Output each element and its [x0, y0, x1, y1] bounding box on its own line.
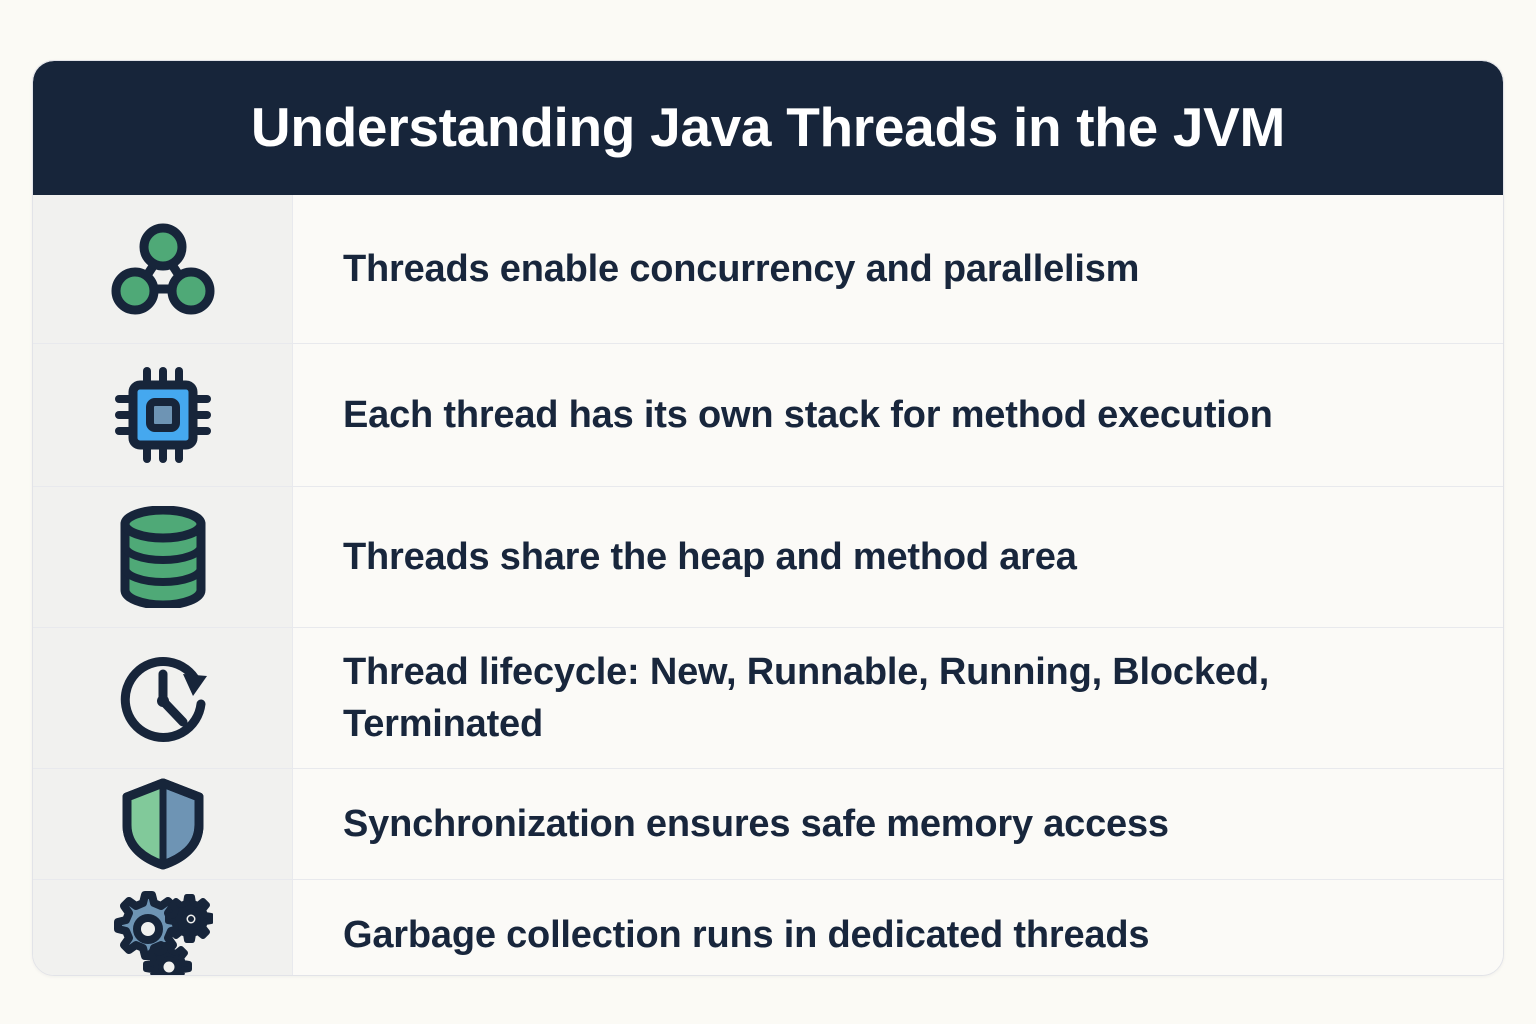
list-item-label: Threads share the heap and method area [343, 531, 1077, 583]
page-title: Understanding Java Threads in the JVM [251, 99, 1285, 157]
header-banner: Understanding Java Threads in the JVM [33, 61, 1503, 195]
icon-cell [33, 628, 293, 768]
gears-icon [113, 889, 213, 976]
shield-icon [119, 777, 207, 871]
icon-cell [33, 195, 293, 343]
list-item-label: Thread lifecycle: New, Runnable, Running… [343, 646, 1463, 751]
text-cell: Threads enable concurrency and paralleli… [293, 195, 1503, 343]
network-nodes-icon [110, 219, 216, 319]
icon-cell [33, 487, 293, 627]
list-item: Garbage collection runs in dedicated thr… [33, 879, 1503, 976]
text-cell: Thread lifecycle: New, Runnable, Running… [293, 628, 1503, 768]
list-item-label: Garbage collection runs in dedicated thr… [343, 909, 1149, 961]
list-item-label: Each thread has its own stack for method… [343, 389, 1273, 441]
list-item: Synchronization ensures safe memory acce… [33, 768, 1503, 879]
text-cell: Threads share the heap and method area [293, 487, 1503, 627]
icon-cell [33, 344, 293, 486]
icon-cell [33, 880, 293, 976]
text-cell: Synchronization ensures safe memory acce… [293, 769, 1503, 879]
infographic-card: Understanding Java Threads in the JVM [32, 60, 1504, 976]
list-item: Threads enable concurrency and paralleli… [33, 195, 1503, 343]
list-item: Threads share the heap and method area [33, 486, 1503, 627]
icon-cell [33, 769, 293, 879]
text-cell: Garbage collection runs in dedicated thr… [293, 880, 1503, 976]
list-item: Thread lifecycle: New, Runnable, Running… [33, 627, 1503, 768]
cpu-chip-icon [111, 363, 215, 467]
clock-history-icon [111, 646, 215, 750]
list-item-label: Threads enable concurrency and paralleli… [343, 243, 1139, 295]
list-item-label: Synchronization ensures safe memory acce… [343, 798, 1169, 850]
fact-list: Threads enable concurrency and paralleli… [33, 195, 1503, 976]
text-cell: Each thread has its own stack for method… [293, 344, 1503, 486]
database-stack-icon [117, 506, 209, 608]
list-item: Each thread has its own stack for method… [33, 343, 1503, 486]
